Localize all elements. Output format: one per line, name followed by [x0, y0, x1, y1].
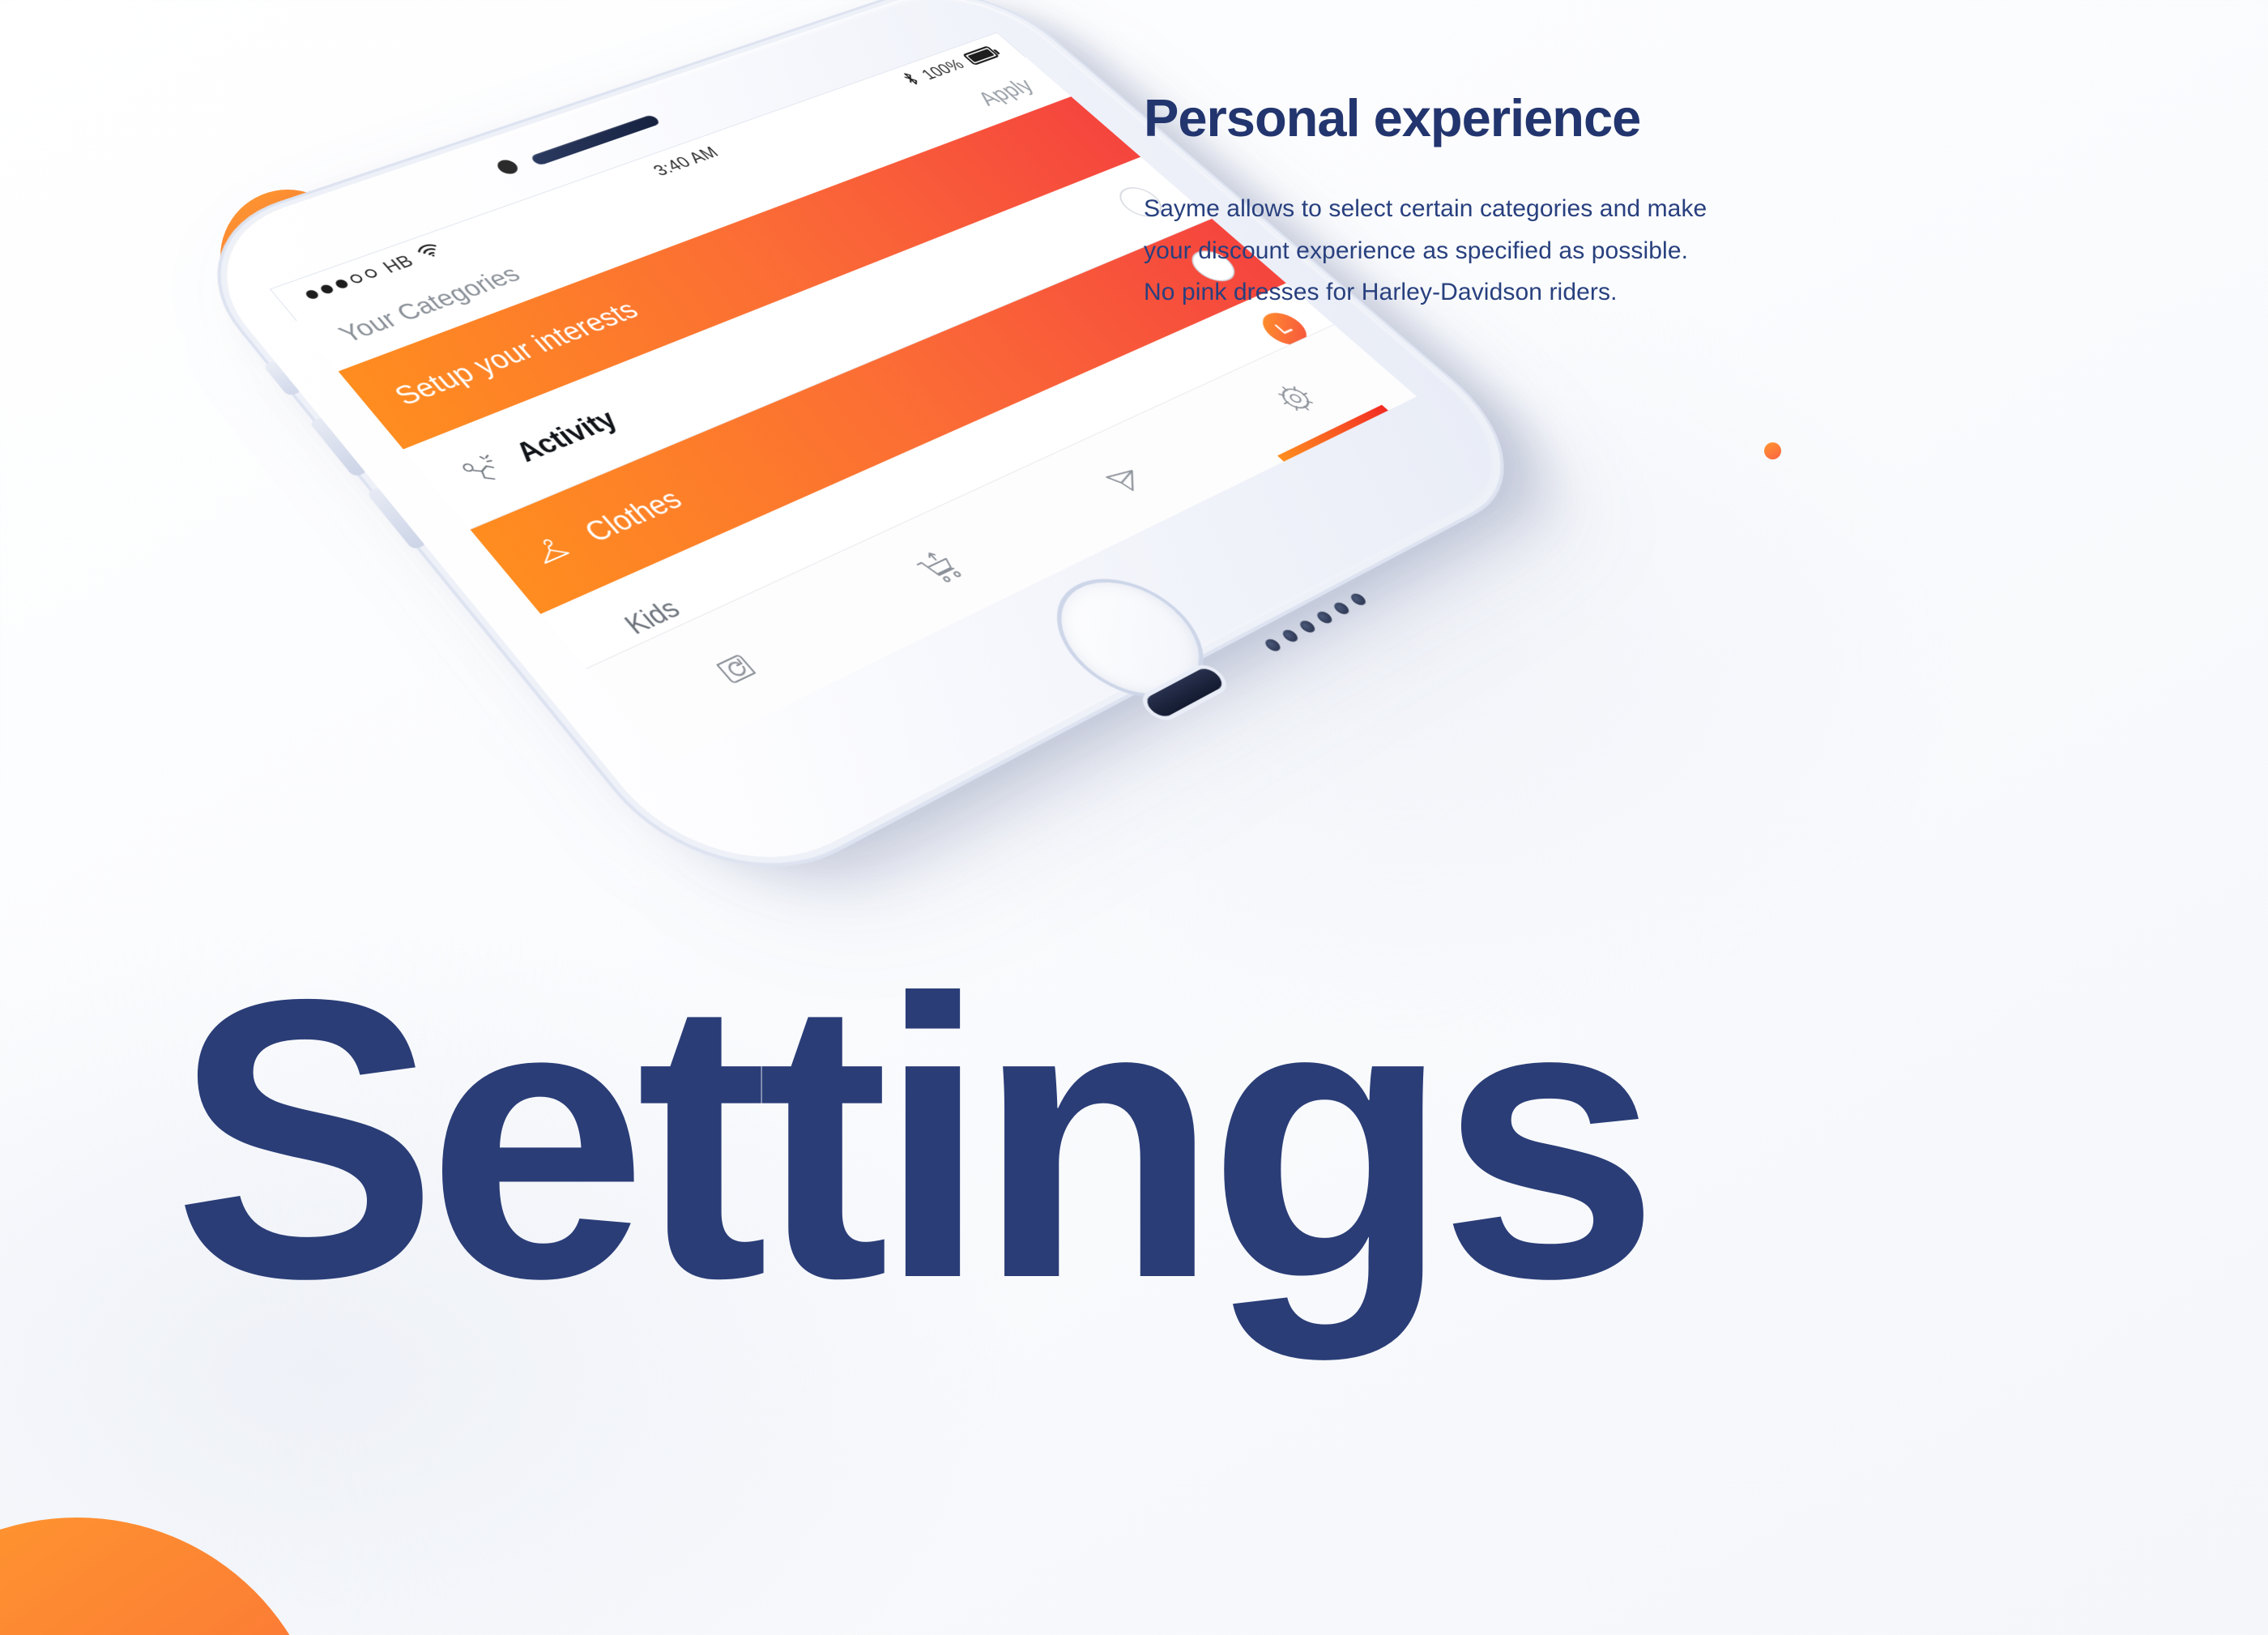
category-label: Clothes — [578, 484, 689, 549]
copy-paragraph: Sayme allows to select certain categorie… — [1144, 188, 1857, 314]
copy-line-1: Sayme allows to select certain categorie… — [1144, 188, 1857, 230]
activity-icon — [453, 449, 510, 491]
carrier-label: HB — [378, 251, 419, 277]
cart-icon — [906, 543, 972, 592]
backdrop-word-settings: Settings — [173, 940, 1648, 1337]
battery-percent: 100% — [916, 56, 969, 83]
wifi-icon — [412, 241, 448, 265]
subcategory-checkbox[interactable] — [1394, 431, 1417, 477]
marketing-copy: Personal experience Sayme allows to sele… — [1144, 91, 1857, 314]
copy-line-3: No pink dresses for Harley-Davidson ride… — [1144, 271, 1857, 314]
subcategory-label: Women — [754, 732, 860, 764]
hanger-icon — [522, 529, 581, 574]
category-label: Activity — [509, 404, 625, 467]
gear-icon — [1264, 377, 1326, 420]
decorative-dot-right — [1764, 442, 1781, 459]
volume-down-button[interactable] — [366, 488, 425, 550]
mute-switch[interactable] — [262, 361, 300, 396]
proximity-sensor — [493, 158, 522, 177]
battery-full-icon — [962, 45, 1000, 66]
volume-up-button[interactable] — [309, 417, 365, 477]
decorative-circle-bottom-left — [0, 1518, 328, 1635]
tag-refresh-icon — [701, 638, 769, 692]
apply-button[interactable]: Apply — [972, 75, 1040, 110]
send-icon — [1093, 456, 1157, 502]
page-title: Personal experience — [1144, 91, 1857, 146]
copy-line-2: your discount experience as specified as… — [1144, 230, 1857, 272]
